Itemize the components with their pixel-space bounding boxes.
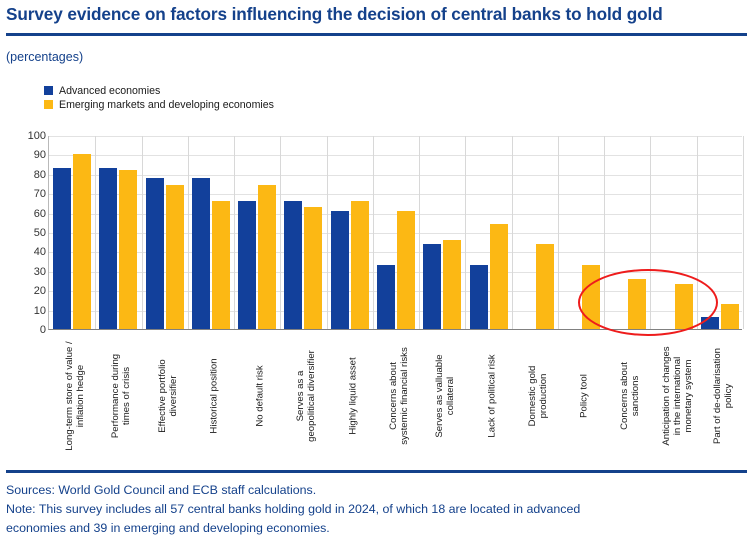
bar-group[interactable] xyxy=(419,136,465,329)
y-axis-tick-label: 80 xyxy=(12,169,46,181)
bar-advanced[interactable] xyxy=(99,168,117,329)
legend-swatch-icon xyxy=(44,100,53,109)
bar-group[interactable] xyxy=(373,136,419,329)
x-axis-category-label: Policy tool xyxy=(580,336,591,456)
bar-emerging[interactable] xyxy=(397,211,415,329)
footer-divider xyxy=(6,470,747,473)
y-axis-tick-label: 70 xyxy=(12,188,46,200)
y-axis-tick-label: 60 xyxy=(12,208,46,220)
bar-emerging[interactable] xyxy=(304,207,322,329)
bar-group[interactable] xyxy=(280,136,326,329)
x-axis-category-label: Long-term store of value / inflation hed… xyxy=(65,336,87,456)
y-axis-tick-label: 0 xyxy=(12,324,46,336)
title-divider xyxy=(6,33,747,36)
bar-emerging[interactable] xyxy=(351,201,369,329)
bar-group[interactable] xyxy=(188,136,234,329)
bar-emerging[interactable] xyxy=(536,244,554,329)
x-axis-category-label: Historical position xyxy=(210,336,221,456)
legend-swatch-icon xyxy=(44,86,53,95)
bar-emerging[interactable] xyxy=(628,279,646,329)
footer-notes: Sources: World Gold Council and ECB staf… xyxy=(6,481,741,538)
legend-item-1[interactable]: Emerging markets and developing economie… xyxy=(44,98,274,111)
bar-group[interactable] xyxy=(650,136,696,329)
bar-advanced[interactable] xyxy=(238,201,256,329)
bar-group[interactable] xyxy=(604,136,650,329)
vertical-gridline xyxy=(743,136,744,329)
bar-emerging[interactable] xyxy=(721,304,739,329)
bar-emerging[interactable] xyxy=(119,170,137,329)
x-axis-category-label: Concerns about sanctions xyxy=(621,336,643,456)
plot-area xyxy=(48,136,742,330)
footer-note: Note: This survey includes all 57 centra… xyxy=(6,500,741,538)
bar-group[interactable] xyxy=(697,136,743,329)
legend-item-0[interactable]: Advanced economies xyxy=(44,84,274,97)
x-axis-category-label: Part of de-dollarisation policy xyxy=(713,336,735,456)
bar-advanced[interactable] xyxy=(331,211,349,329)
bar-advanced[interactable] xyxy=(146,178,164,329)
bar-group[interactable] xyxy=(558,136,604,329)
bar-emerging[interactable] xyxy=(443,240,461,329)
bar-group[interactable] xyxy=(465,136,511,329)
bar-advanced[interactable] xyxy=(701,317,719,329)
footer-sources: Sources: World Gold Council and ECB staf… xyxy=(6,481,741,500)
legend-label: Advanced economies xyxy=(59,85,160,97)
bar-group[interactable] xyxy=(234,136,280,329)
y-axis-tick-label: 100 xyxy=(12,130,46,142)
plot-wrapper: 0102030405060708090100 xyxy=(0,130,753,340)
chart-page: Survey evidence on factors influencing t… xyxy=(0,0,753,554)
bar-group[interactable] xyxy=(512,136,558,329)
bar-emerging[interactable] xyxy=(166,185,184,329)
x-axis-category-label: Domestic gold production xyxy=(528,336,550,456)
bar-advanced[interactable] xyxy=(377,265,395,329)
bar-advanced[interactable] xyxy=(53,168,71,329)
bar-emerging[interactable] xyxy=(212,201,230,329)
bar-advanced[interactable] xyxy=(192,178,210,329)
x-axis-category-label: Serves as valluable collateral xyxy=(435,336,457,456)
bar-emerging[interactable] xyxy=(675,284,693,329)
bar-group[interactable] xyxy=(49,136,95,329)
x-axis-labels: Long-term store of value / inflation hed… xyxy=(48,336,742,466)
y-axis-tick-label: 30 xyxy=(12,266,46,278)
y-axis-tick-label: 50 xyxy=(12,227,46,239)
bar-advanced[interactable] xyxy=(423,244,441,329)
y-axis: 0102030405060708090100 xyxy=(10,130,46,330)
y-axis-tick-label: 20 xyxy=(12,285,46,297)
x-axis-category-label: Concerns about systemic financial risks xyxy=(389,336,411,456)
y-axis-tick-label: 40 xyxy=(12,246,46,258)
units-label: (percentages) xyxy=(6,50,83,64)
y-axis-tick-label: 10 xyxy=(12,305,46,317)
bar-group[interactable] xyxy=(327,136,373,329)
x-axis-category-label: Anticipation of changes in the internati… xyxy=(661,336,693,456)
x-axis-category-label: Highly liquid asset xyxy=(348,336,359,456)
chart-legend: Advanced economiesEmerging markets and d… xyxy=(44,84,274,112)
x-axis-category-label: Lack of political risk xyxy=(487,336,498,456)
bar-emerging[interactable] xyxy=(258,185,276,329)
bar-advanced[interactable] xyxy=(470,265,488,329)
bar-group[interactable] xyxy=(142,136,188,329)
bar-emerging[interactable] xyxy=(490,224,508,329)
x-axis-category-label: Serves as a geopolitical diversifier xyxy=(297,336,319,456)
bar-advanced[interactable] xyxy=(284,201,302,329)
page-title: Survey evidence on factors influencing t… xyxy=(6,4,751,25)
y-axis-tick-label: 90 xyxy=(12,149,46,161)
x-axis-category-label: No default risk xyxy=(256,336,267,456)
bar-group[interactable] xyxy=(95,136,141,329)
bar-emerging[interactable] xyxy=(73,154,91,329)
legend-label: Emerging markets and developing economie… xyxy=(59,99,274,111)
bar-emerging[interactable] xyxy=(582,265,600,329)
x-axis-category-label: Effective portfolio diversifier xyxy=(158,336,180,456)
x-axis-category-label: Performance during times of crisis xyxy=(112,336,134,456)
